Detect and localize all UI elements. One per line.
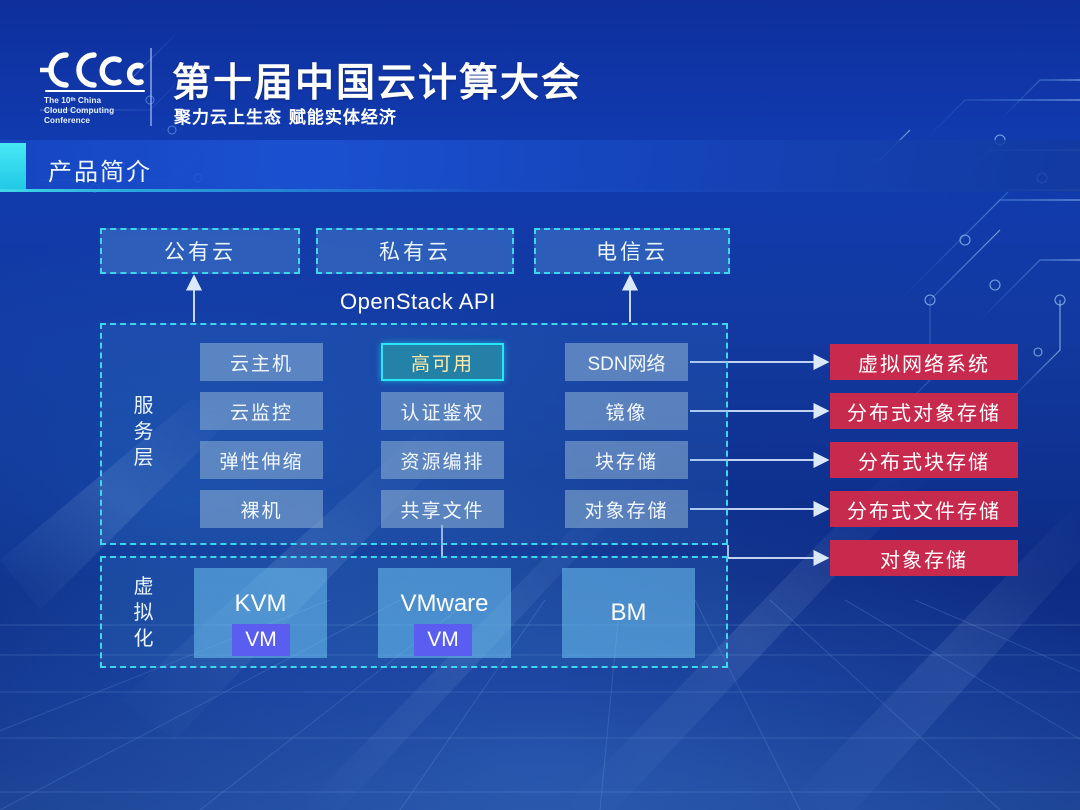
service-item-high-availability[interactable]: 高可用 [381,343,504,381]
service-item-sdn-network[interactable]: SDN网络 [565,343,688,381]
openstack-api-label: OpenStack API [340,289,496,315]
right-box-distributed-file-storage[interactable]: 分布式文件存储 [830,491,1018,527]
right-box-distributed-object-storage[interactable]: 分布式对象存储 [830,393,1018,429]
vm-badge-kvm: VM [232,624,290,656]
architecture-diagram: 公有云 私有云 电信云 OpenStack API 服务层 云主机 云监控 弹性… [0,0,1080,810]
service-item-shared-file[interactable]: 共享文件 [381,490,504,528]
service-item-baremetal[interactable]: 裸机 [200,490,323,528]
right-box-object-storage[interactable]: 对象存储 [830,540,1018,576]
virtualization-layer-label: 虚拟化 [124,573,164,651]
service-item-cloud-monitor[interactable]: 云监控 [200,392,323,430]
vm-badge-vmware: VM [414,624,472,656]
service-item-orchestration[interactable]: 资源编排 [381,441,504,479]
cloud-box-public[interactable]: 公有云 [100,228,300,274]
service-item-autoscaling[interactable]: 弹性伸缩 [200,441,323,479]
virt-item-bm[interactable]: BM [562,568,695,658]
cloud-box-private[interactable]: 私有云 [316,228,514,274]
service-item-image[interactable]: 镜像 [565,392,688,430]
service-item-authentication[interactable]: 认证鉴权 [381,392,504,430]
right-box-distributed-block-storage[interactable]: 分布式块存储 [830,442,1018,478]
slide-root: The 10ᵗʰ China Cloud Computing Conferenc… [0,0,1080,810]
service-item-object-storage[interactable]: 对象存储 [565,490,688,528]
service-item-block-storage[interactable]: 块存储 [565,441,688,479]
service-layer-label: 服务层 [124,392,164,470]
service-item-cloud-host[interactable]: 云主机 [200,343,323,381]
right-box-virtual-network-system[interactable]: 虚拟网络系统 [830,344,1018,380]
cloud-box-telecom[interactable]: 电信云 [534,228,730,274]
